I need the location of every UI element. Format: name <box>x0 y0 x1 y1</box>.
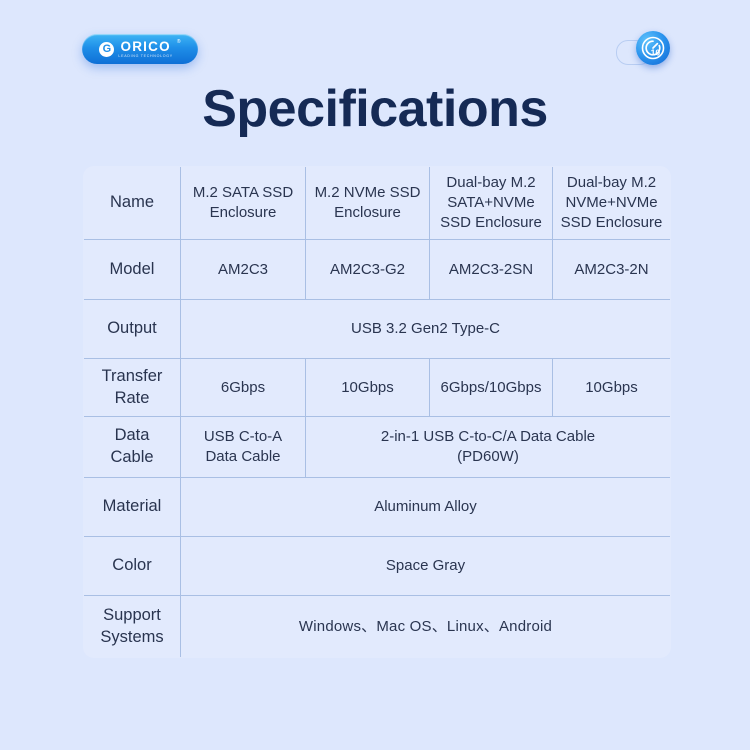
brand-tagline: LEADING TECHNOLOGY <box>118 55 172 59</box>
cell-cable-span: 2-in-1 USB C-to-C/A Data Cable(PD60W) <box>306 417 671 478</box>
speed-badge-group: 10 <box>616 31 674 71</box>
cell-model-col1: AM2C3 <box>181 240 306 300</box>
specifications-table: Name M.2 SATA SSDEnclosure M.2 NVMe SSDE… <box>83 166 671 658</box>
cell-rate-col1: 6Gbps <box>181 359 306 417</box>
speed-gauge-icon: 10 <box>636 31 670 65</box>
row-label-data-cable: DataCable <box>84 417 181 478</box>
orico-logo: G ORICO LEADING TECHNOLOGY ® <box>82 34 198 64</box>
row-label-name: Name <box>84 167 181 240</box>
orico-wordmark: ORICO LEADING TECHNOLOGY <box>118 40 172 59</box>
brand-name: ORICO <box>121 40 171 54</box>
row-label-transfer-rate: TransferRate <box>84 359 181 417</box>
row-label-color: Color <box>84 537 181 596</box>
table-row: TransferRate 6Gbps 10Gbps 6Gbps/10Gbps 1… <box>84 359 671 417</box>
cell-rate-col3: 6Gbps/10Gbps <box>430 359 553 417</box>
table-row: SupportSystems Windows、Mac OS、Linux、Andr… <box>84 596 671 658</box>
table-row: Color Space Gray <box>84 537 671 596</box>
cell-support-systems-all: Windows、Mac OS、Linux、Android <box>181 596 671 658</box>
table-row: DataCable USB C-to-AData Cable 2-in-1 US… <box>84 417 671 478</box>
cell-cable-col1: USB C-to-AData Cable <box>181 417 306 478</box>
cell-model-col3: AM2C3-2SN <box>430 240 553 300</box>
cell-name-col2: M.2 NVMe SSDEnclosure <box>306 167 430 240</box>
table-row: Output USB 3.2 Gen2 Type-C <box>84 300 671 359</box>
cell-name-col4: Dual-bay M.2NVMe+NVMeSSD Enclosure <box>553 167 671 240</box>
row-label-output: Output <box>84 300 181 359</box>
row-label-support-systems: SupportSystems <box>84 596 181 658</box>
table-row: Material Aluminum Alloy <box>84 478 671 537</box>
badge-value: 10 <box>651 47 661 57</box>
cell-name-col1: M.2 SATA SSDEnclosure <box>181 167 306 240</box>
row-label-material: Material <box>84 478 181 537</box>
registered-trademark-icon: ® <box>177 39 181 45</box>
table-row: Model AM2C3 AM2C3-G2 AM2C3-2SN AM2C3-2N <box>84 240 671 300</box>
row-label-model: Model <box>84 240 181 300</box>
cell-output-all: USB 3.2 Gen2 Type-C <box>181 300 671 359</box>
cell-rate-col4: 10Gbps <box>553 359 671 417</box>
cell-name-col3: Dual-bay M.2SATA+NVMeSSD Enclosure <box>430 167 553 240</box>
page-title: Specifications <box>0 79 750 139</box>
cell-color-all: Space Gray <box>181 537 671 596</box>
cell-rate-col2: 10Gbps <box>306 359 430 417</box>
cell-model-col2: AM2C3-G2 <box>306 240 430 300</box>
orico-mark-icon: G <box>99 42 114 57</box>
cell-model-col4: AM2C3-2N <box>553 240 671 300</box>
cell-material-all: Aluminum Alloy <box>181 478 671 537</box>
table-row: Name M.2 SATA SSDEnclosure M.2 NVMe SSDE… <box>84 167 671 240</box>
